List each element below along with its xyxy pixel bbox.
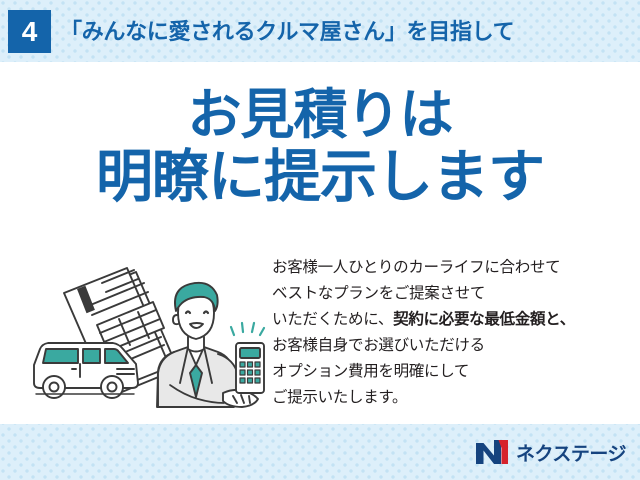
van-icon — [34, 343, 138, 398]
footer: ネクステージ — [0, 424, 640, 480]
headline-line-2: 明瞭に提示します — [0, 146, 640, 208]
body-copy-line-3: いただくために、契約に必要な最低金額と、 — [272, 307, 638, 333]
slide-root: 4 「みんなに愛されるクルマ屋さん」を目指して お見積りは 明瞭に提示します — [0, 0, 640, 480]
sparkle-icon — [231, 323, 264, 335]
calculator-icon — [236, 343, 264, 393]
content-panel: お見積りは 明瞭に提示します — [0, 62, 640, 424]
brand-logo-text: ネクステージ — [516, 439, 626, 466]
body-copy-line-2: ベストなプランをご提案させて — [272, 281, 638, 307]
section-number-badge: 4 — [8, 10, 51, 53]
headline: お見積りは 明瞭に提示します — [0, 84, 640, 208]
body-copy-line-4: お客様自身でお選びいただける — [272, 333, 638, 359]
nextage-n-logo-icon — [475, 439, 509, 465]
header-title: 「みんなに愛されるクルマ屋さん」を目指して — [60, 14, 514, 46]
header: 4 「みんなに愛されるクルマ屋さん」を目指して — [0, 0, 640, 62]
illustration-svg — [18, 257, 266, 427]
brand-logo: ネクステージ — [475, 438, 626, 466]
body-copy-line-3-emphasis: 契約に必要な最低金額と、 — [393, 311, 575, 328]
body-copy: お客様一人ひとりのカーライフに合わせて ベストなプランをご提案させて いただくた… — [272, 255, 638, 411]
illustration-salesperson-with-calculator — [18, 257, 266, 427]
body-copy-line-3-plain: いただくために、 — [272, 311, 393, 328]
body-copy-line-5: オプション費用を明確にして — [272, 359, 638, 385]
body-copy-line-1: お客様一人ひとりのカーライフに合わせて — [272, 255, 638, 281]
headline-line-1: お見積りは — [0, 84, 640, 146]
body-copy-line-6: ご提示いたします。 — [272, 385, 638, 411]
